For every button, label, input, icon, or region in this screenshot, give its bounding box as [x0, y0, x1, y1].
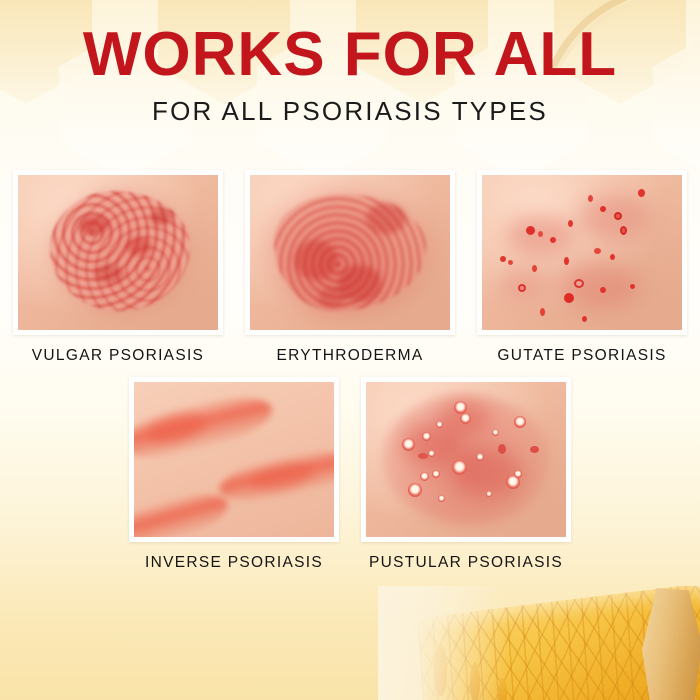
card-caption: GUTATE PSORIASIS	[477, 347, 687, 365]
page-subtitle: FOR ALL PSORIASIS TYPES	[0, 98, 700, 124]
plaque-psoriasis-photo	[13, 170, 223, 335]
card-caption: VULGAR PSORIASIS	[13, 347, 223, 365]
card-pustular-psoriasis[interactable]: PUSTULAR PSORIASIS	[361, 377, 571, 572]
card-vulgar-psoriasis[interactable]: VULGAR PSORIASIS	[13, 170, 223, 365]
psoriasis-type-grid: VULGAR PSORIASIS ERYTHRODERMA	[0, 170, 700, 572]
grid-row-1: VULGAR PSORIASIS ERYTHRODERMA	[0, 170, 700, 365]
inverse-psoriasis-photo	[129, 377, 339, 542]
guttate-psoriasis-photo	[477, 170, 687, 335]
honeycomb-slab-image	[378, 586, 700, 700]
card-caption: INVERSE PSORIASIS	[129, 554, 339, 572]
erythroderma-psoriasis-photo	[245, 170, 455, 335]
card-erythroderma[interactable]: ERYTHRODERMA	[245, 170, 455, 365]
card-caption: PUSTULAR PSORIASIS	[361, 554, 571, 572]
card-inverse-psoriasis[interactable]: INVERSE PSORIASIS	[129, 377, 339, 572]
card-gutate-psoriasis[interactable]: GUTATE PSORIASIS	[477, 170, 687, 365]
page-title: WORKS FOR ALL	[0, 24, 700, 86]
pustular-psoriasis-photo	[361, 377, 571, 542]
card-caption: ERYTHRODERMA	[245, 347, 455, 365]
poster-root: WORKS FOR ALL FOR ALL PSORIASIS TYPES VU…	[0, 0, 700, 700]
grid-row-2: INVERSE PSORIASIS	[0, 377, 700, 572]
